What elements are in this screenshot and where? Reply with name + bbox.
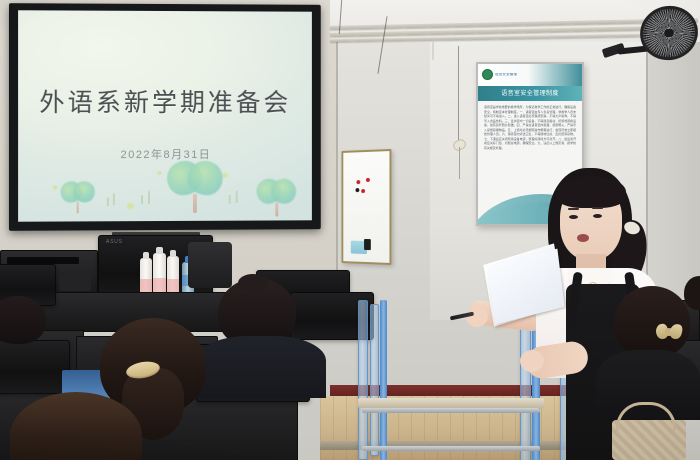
- grass-blade: [107, 197, 109, 206]
- magnet-black: [356, 188, 360, 192]
- heart-tree-icon-small: [61, 181, 95, 213]
- student-monitor: [0, 340, 70, 394]
- university-seal-icon: [482, 69, 493, 80]
- desk-partition: [370, 304, 379, 456]
- grass-blade: [229, 195, 231, 204]
- leaf-dot: [127, 203, 134, 209]
- bow-knot: [665, 328, 673, 336]
- presenter-eyebrow-left: [568, 208, 579, 210]
- bottle-cap: [143, 252, 149, 259]
- leaf-dot: [223, 173, 228, 178]
- sanitizer-bottle: [167, 256, 179, 296]
- attendee-shoulders: [196, 336, 326, 398]
- presenter-eye-left: [569, 215, 578, 219]
- grass-blade: [141, 195, 143, 204]
- av-panel-edge: [59, 273, 91, 291]
- bottle-cap: [170, 250, 176, 257]
- cable-line: [458, 46, 459, 142]
- heart-tree-icon-large: [167, 161, 223, 213]
- handbag: [612, 420, 686, 460]
- bottle-label: [167, 279, 179, 293]
- poster-logo: 语言安全管理: [482, 69, 517, 80]
- presenter-eyebrow-right: [592, 207, 603, 209]
- poster-logo-row: 语言安全管理: [478, 64, 582, 86]
- presenter-eye-right: [593, 214, 602, 218]
- grass-blade: [236, 191, 238, 203]
- poster-title: 语音室安全管理制度: [478, 88, 582, 97]
- grass-blade: [113, 193, 115, 205]
- desk-rail-lower: [362, 446, 540, 451]
- sanitizer-bottle: [153, 253, 166, 296]
- whiteboard: [341, 149, 391, 265]
- cable-tail: [459, 147, 460, 179]
- bottle-cap: [156, 247, 162, 254]
- heart-tree-icon-edge: [257, 179, 297, 217]
- presenter-hand: [520, 350, 544, 372]
- hand: [466, 306, 488, 327]
- monitor-brand-label: ASUS: [106, 239, 123, 245]
- attendee-hair-knot: [238, 274, 268, 292]
- poster-university-name: 语言安全管理: [495, 73, 517, 77]
- magnet-red: [366, 178, 370, 182]
- leaf-dot: [52, 185, 57, 189]
- attendee-head: [614, 286, 690, 358]
- slide-date: 2022年8月31日: [18, 146, 312, 163]
- av-slot: [7, 257, 79, 264]
- magnet-red: [356, 180, 360, 184]
- bottle-label: [140, 279, 152, 293]
- leaf-dot: [157, 171, 162, 175]
- wall-seam-left: [336, 0, 338, 300]
- presenter-mouth: [577, 234, 589, 242]
- slide-title: 外语系新学期准备会: [18, 83, 312, 119]
- grass-blade: [148, 191, 150, 204]
- chair-backrest: [188, 242, 232, 288]
- desk-partition: [358, 300, 368, 460]
- classroom-photo: 外语系新学期准备会 2022年8月31日: [0, 0, 700, 460]
- attendee-hair-bow: [656, 324, 682, 339]
- bottle-label: [153, 278, 166, 293]
- presenter-fringe: [556, 176, 626, 208]
- projection-screen: 外语系新学期准备会 2022年8月31日: [9, 3, 321, 231]
- hanging-cable: [452, 46, 466, 178]
- desk-rail: [362, 408, 540, 413]
- projection-screen-surface: 外语系新学期准备会 2022年8月31日: [18, 10, 312, 221]
- magnet-red: [361, 189, 365, 193]
- partition-post: [380, 300, 387, 460]
- sanitizer-bottle: [140, 258, 152, 296]
- desk-surface-edge: [358, 398, 544, 408]
- whiteboard-marker: [364, 239, 371, 250]
